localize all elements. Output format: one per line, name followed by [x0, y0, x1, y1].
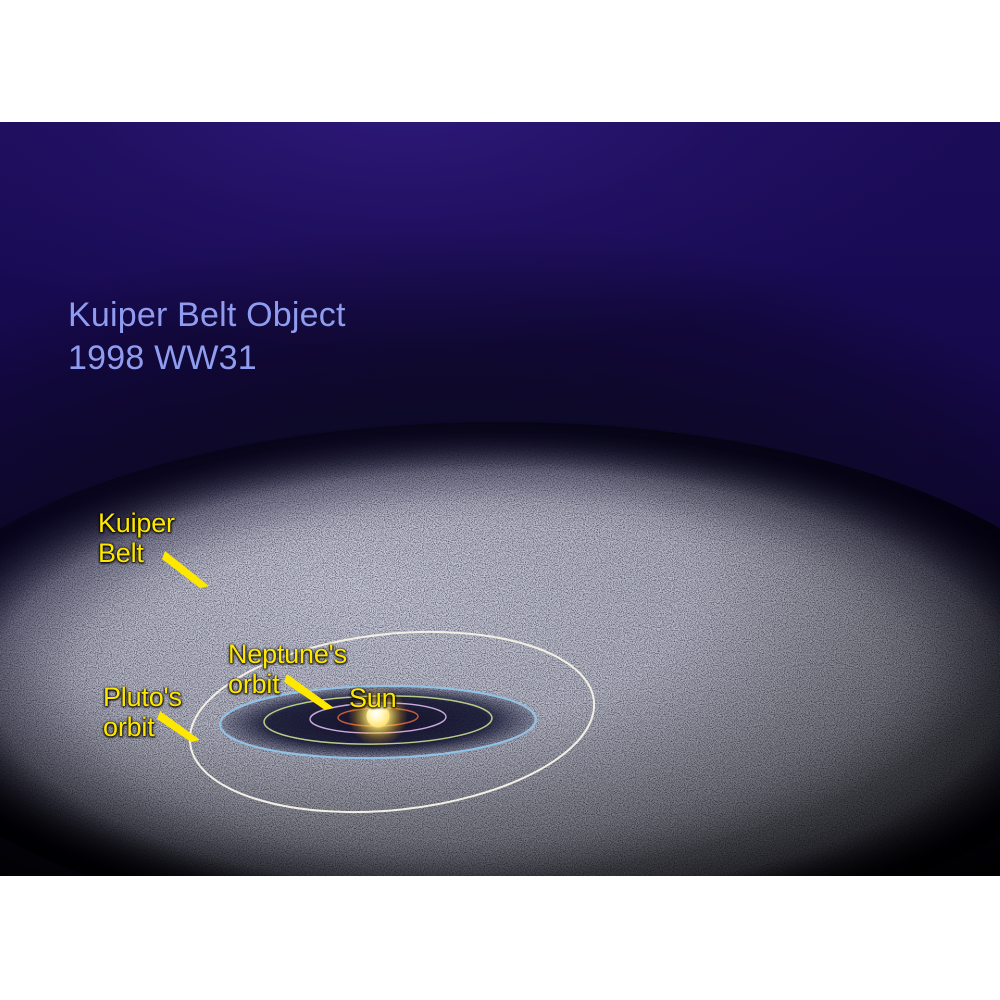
- label-kuiper-belt: Kuiper Belt: [98, 508, 175, 568]
- label-neptune-orbit: Neptune's orbit: [228, 639, 347, 699]
- kuiper-belt-grain: [0, 422, 1000, 876]
- page-title: Kuiper Belt Object 1998 WW31: [68, 294, 346, 380]
- illustration-plate: Kuiper Belt Object 1998 WW31 Kuiper Belt…: [0, 122, 1000, 876]
- page-root: Kuiper Belt Object 1998 WW31 Kuiper Belt…: [0, 0, 1000, 1000]
- kuiper-belt-disk: [0, 422, 1000, 876]
- label-pluto-orbit: Pluto's orbit: [103, 682, 182, 742]
- label-sun: Sun: [349, 683, 396, 713]
